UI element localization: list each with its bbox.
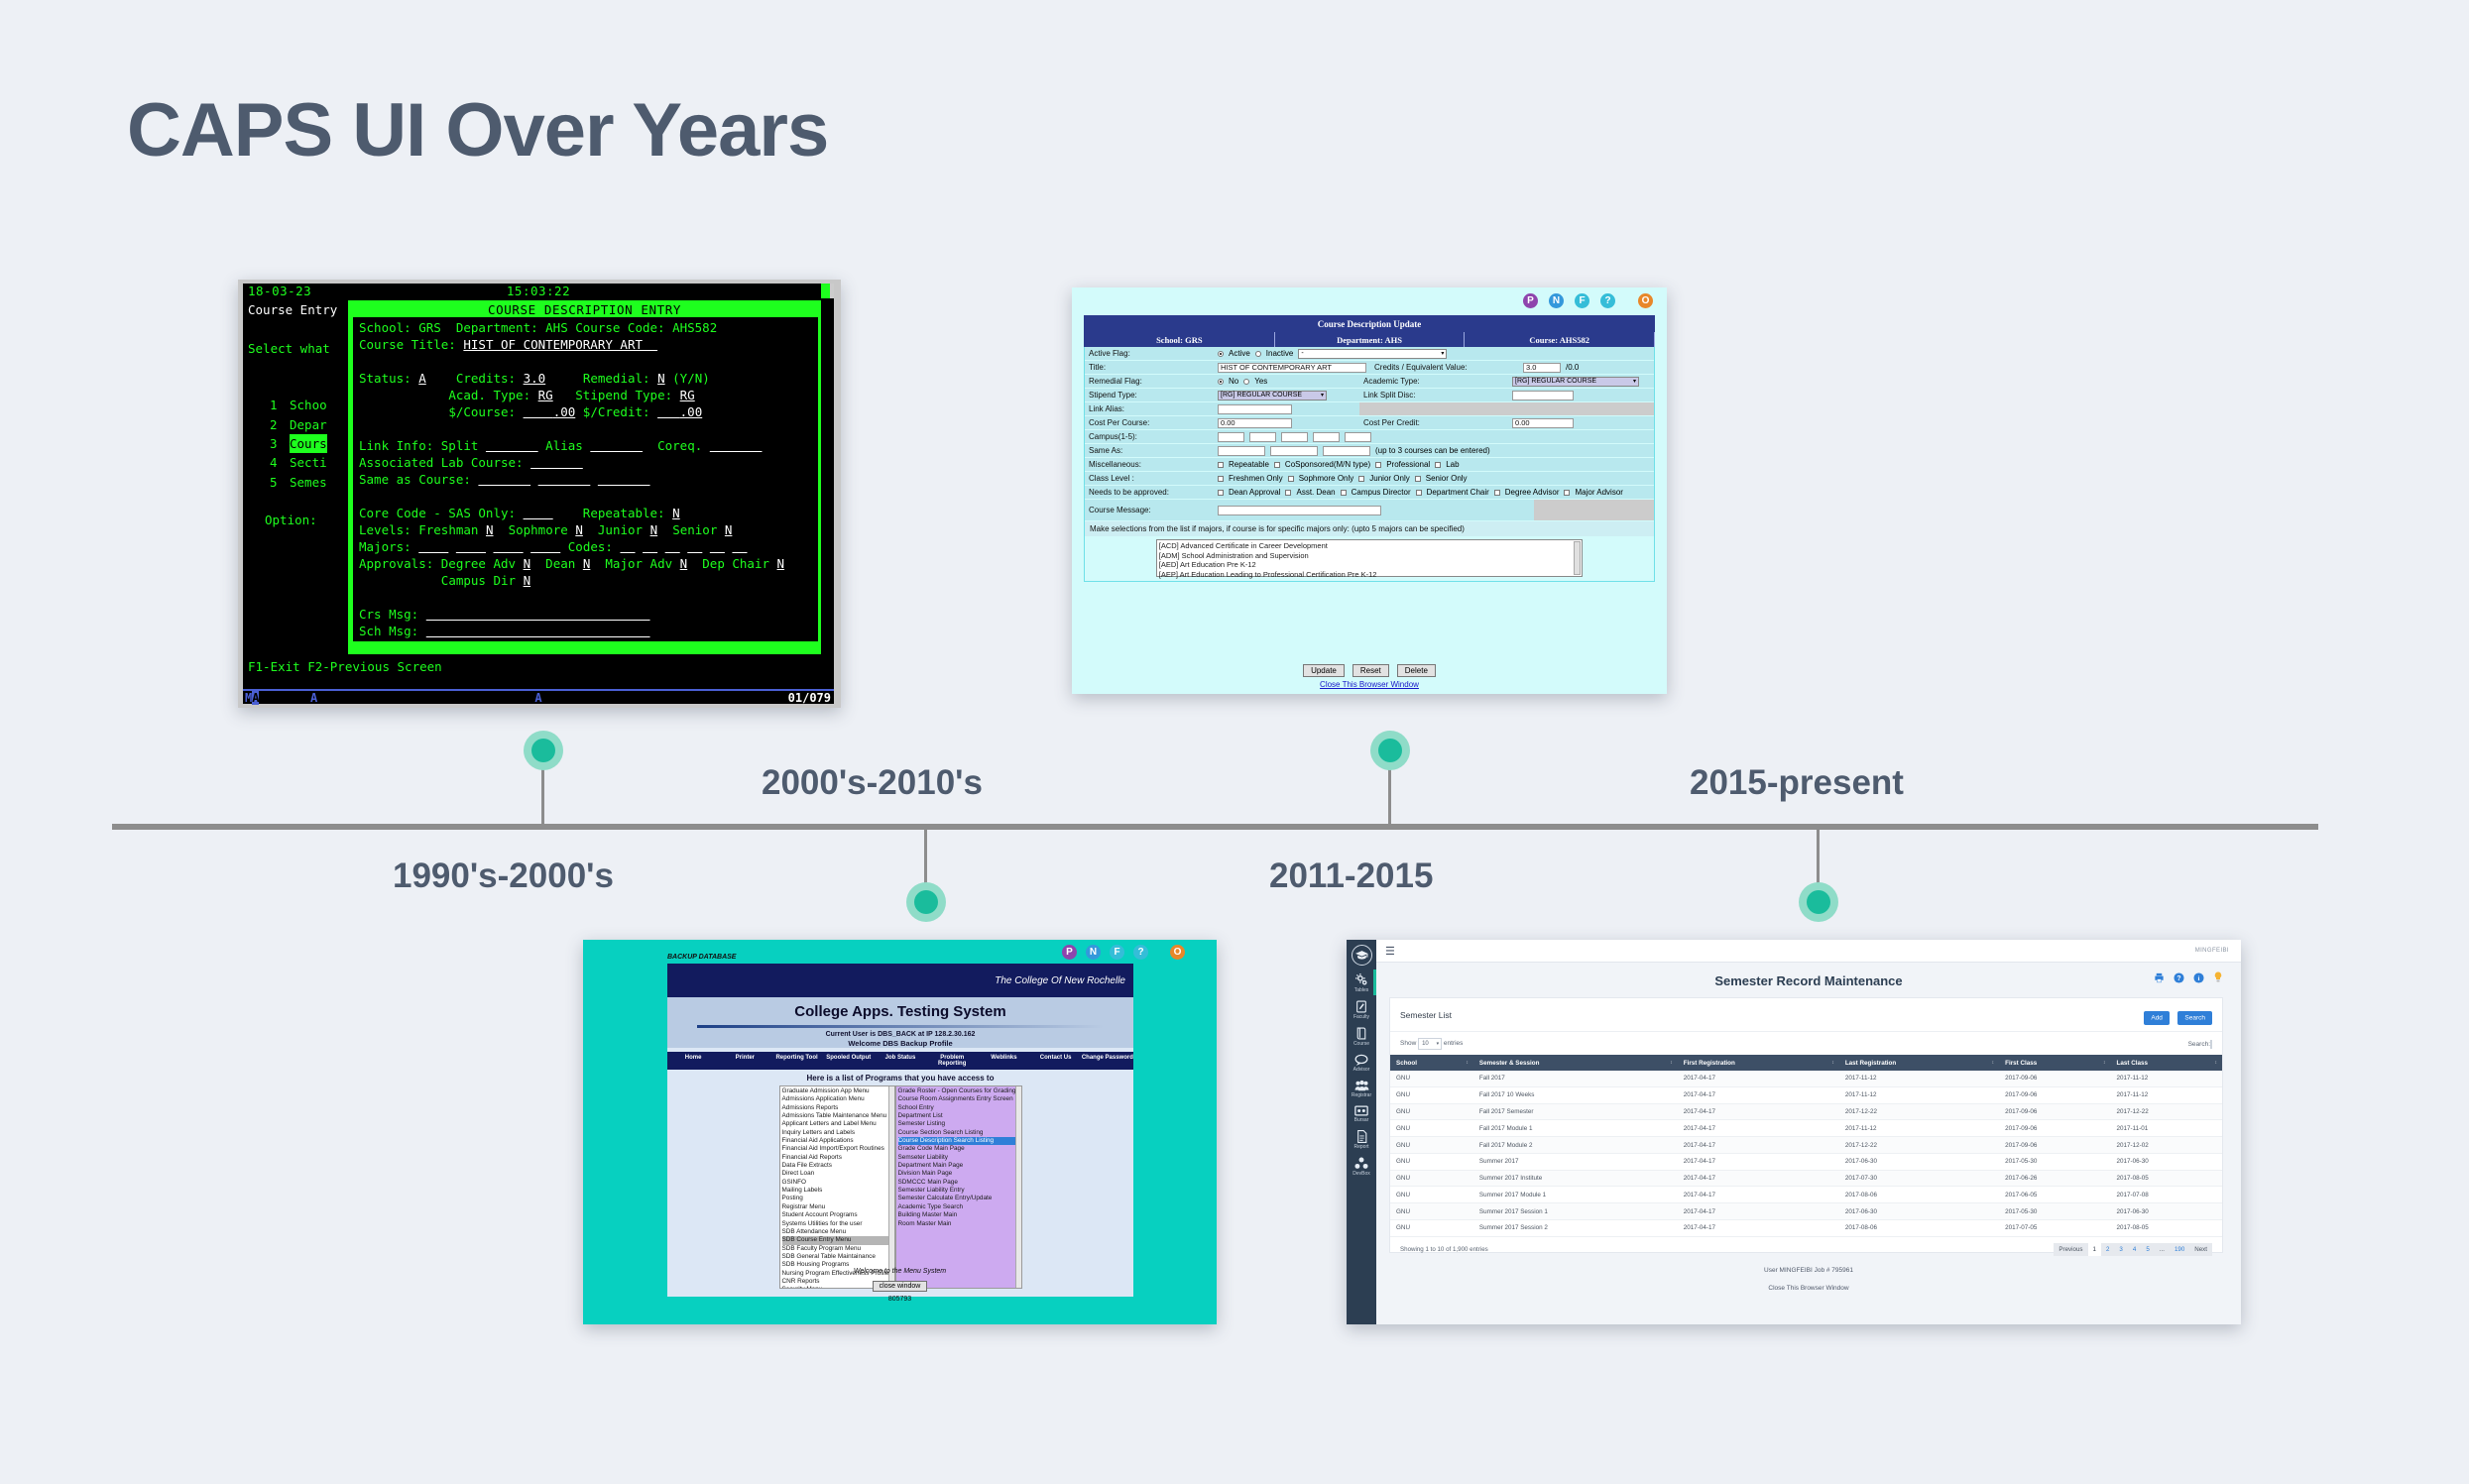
sidebar-item-report[interactable]: Report bbox=[1347, 1130, 1376, 1150]
table-row[interactable]: GNUFall 2017 Module 12017-04-172017-11-1… bbox=[1390, 1120, 2222, 1137]
field-row-same-as: Same As: (up to 3 courses can be entered… bbox=[1085, 444, 1654, 458]
page-5[interactable]: 5 bbox=[2141, 1243, 2154, 1256]
term-depchair-label: Dep Chair bbox=[702, 556, 769, 571]
value-academic-type: [RG] REGULAR COURSE bbox=[1508, 375, 1654, 388]
term-codes-4[interactable] bbox=[687, 539, 702, 554]
subprogram-option[interactable]: Room Master Main bbox=[898, 1220, 1019, 1228]
term-freshman-value[interactable]: N bbox=[486, 522, 494, 537]
term-sameas-2[interactable] bbox=[538, 472, 591, 487]
select-stipend-type[interactable]: [RG] REGULAR COURSE bbox=[1218, 391, 1327, 400]
timeline-label-1: 1990's-2000's bbox=[393, 856, 614, 896]
teal-org-bar: The College Of New Rochelle bbox=[667, 964, 1133, 997]
term-dollarcourse-value[interactable]: .00 bbox=[524, 404, 576, 419]
badge-p-icon[interactable]: P bbox=[1062, 945, 1077, 960]
teal-list-area: Graduate Admission App MenuAdmissions Ap… bbox=[667, 1085, 1133, 1297]
page-1[interactable]: 1 bbox=[2088, 1243, 2101, 1256]
input-same-as-3[interactable] bbox=[1323, 446, 1370, 456]
subprogram-option[interactable]: Course Section Search Listing bbox=[898, 1129, 1019, 1137]
checkbox-asst-dean[interactable] bbox=[1285, 490, 1291, 496]
checkbox-degree-advisor[interactable] bbox=[1494, 490, 1500, 496]
term-majors-1[interactable] bbox=[418, 539, 448, 554]
table-cell: 2017-09-06 bbox=[1999, 1103, 2110, 1120]
value-cost-per-credit: 0.00 bbox=[1508, 416, 1654, 429]
table-cell: 2017-06-26 bbox=[1999, 1170, 2110, 1187]
input-link-split[interactable] bbox=[1512, 391, 1574, 400]
checkbox-professional[interactable] bbox=[1375, 462, 1381, 468]
table-cell: 2017-04-17 bbox=[1678, 1086, 1839, 1103]
subprogram-option[interactable]: Grade Code Main Page bbox=[898, 1145, 1019, 1153]
col-last-class[interactable]: Last Class↕ bbox=[2111, 1055, 2222, 1071]
table-cell: 2017-04-17 bbox=[1678, 1120, 1839, 1137]
input-same-as-1[interactable] bbox=[1218, 446, 1265, 456]
search-control: Search: bbox=[2188, 1041, 2212, 1048]
terminal-date: 18-03-23 bbox=[248, 284, 311, 298]
term-majoradv-value[interactable]: N bbox=[680, 556, 688, 571]
table-cell: 2017-07-05 bbox=[1999, 1220, 2110, 1237]
col-school[interactable]: School↕ bbox=[1390, 1055, 1473, 1071]
term-credits-label: Credits: bbox=[456, 371, 516, 386]
term-schmsg-field[interactable] bbox=[426, 624, 650, 638]
page-3[interactable]: 3 bbox=[2114, 1243, 2127, 1256]
terminal-menu-item-school[interactable]: 1 Schoo bbox=[248, 396, 347, 414]
input-campus-3[interactable] bbox=[1281, 432, 1308, 442]
checkbox-senior-only[interactable] bbox=[1415, 476, 1421, 482]
timeline-label-3: 2011-2015 bbox=[1269, 856, 1433, 896]
radio-active[interactable] bbox=[1218, 351, 1224, 357]
subprogram-option[interactable]: Semseter Liability bbox=[898, 1154, 1019, 1162]
subprogram-option[interactable]: Semester Calculate Entry/Update bbox=[898, 1195, 1019, 1202]
nav-job-status[interactable]: Job Status bbox=[875, 1052, 926, 1070]
field-row-class-level: Class Level : Freshmen Only Sophmore Onl… bbox=[1085, 472, 1654, 486]
table-cell: 2017-08-05 bbox=[2111, 1220, 2222, 1237]
term-school-line: School: GRS Department: AHS Course Code:… bbox=[359, 320, 717, 335]
terminal-status-mode: MMAA bbox=[245, 691, 259, 705]
majors-listbox[interactable]: [ACD] Advanced Certificate in Career Dev… bbox=[1156, 539, 1584, 577]
majors-option-acd[interactable]: [ACD] Advanced Certificate in Career Dev… bbox=[1159, 541, 1581, 551]
term-remedial-value[interactable]: N bbox=[657, 371, 665, 386]
subprogram-option[interactable]: Department Main Page bbox=[898, 1162, 1019, 1170]
card-title: Semester List bbox=[1400, 1010, 1452, 1020]
teal-badge-row: P N F ? O bbox=[1062, 945, 1185, 960]
terminal-menu-item-semester[interactable]: 5 Semes bbox=[248, 473, 347, 492]
input-campus-5[interactable] bbox=[1345, 432, 1371, 442]
subprogram-option[interactable]: Department List bbox=[898, 1112, 1019, 1120]
subprogram-option[interactable]: Course Description Search Listing bbox=[898, 1137, 1019, 1145]
term-dollarcredit-label: $/Credit: bbox=[583, 404, 650, 419]
program-option[interactable]: Direct Loan bbox=[782, 1170, 892, 1178]
table-cell: 2017-07-30 bbox=[1839, 1170, 1999, 1187]
page-next[interactable]: Next bbox=[2189, 1243, 2212, 1256]
delete-button[interactable]: Delete bbox=[1397, 664, 1436, 677]
badge-f-icon[interactable]: F bbox=[1110, 945, 1124, 960]
backup-database-label: BACKUP DATABASE bbox=[667, 954, 736, 961]
table-cell: 2017-04-17 bbox=[1678, 1137, 1839, 1154]
teal-divider bbox=[697, 1025, 1104, 1028]
term-repeatable-value[interactable]: N bbox=[672, 506, 680, 520]
graduation-cap-logo-icon[interactable] bbox=[1352, 945, 1372, 966]
badge-n-icon[interactable]: N bbox=[1549, 293, 1564, 308]
label-link-alias: Link Alias: bbox=[1085, 402, 1214, 415]
term-codes-1[interactable] bbox=[620, 539, 635, 554]
label-major-advisor: Major Advisor bbox=[1575, 488, 1622, 497]
entries-label: entries bbox=[1444, 1040, 1464, 1047]
program-option[interactable]: Applicant Letters and Label Menu bbox=[782, 1120, 892, 1128]
majors-scrollbar[interactable] bbox=[1574, 541, 1581, 575]
term-corecode-field[interactable] bbox=[524, 506, 553, 520]
hamburger-menu-icon[interactable]: ☰ bbox=[1385, 945, 1395, 958]
radio-inactive[interactable] bbox=[1255, 351, 1261, 357]
checkbox-department-chair[interactable] bbox=[1416, 490, 1422, 496]
footer-user-line: User MINGFEIBI Job # 795961 bbox=[1376, 1267, 2241, 1274]
subprogram-option[interactable]: Academic Type Search bbox=[898, 1203, 1019, 1211]
select-active-reason[interactable]: - bbox=[1298, 349, 1447, 359]
timeline-label-4: 2015-present bbox=[1690, 763, 1904, 803]
nav-contact-us[interactable]: Contact Us bbox=[1030, 1052, 1082, 1070]
checkbox-cosponsored[interactable] bbox=[1274, 462, 1280, 468]
sidebar-item-advisor[interactable]: Advisor bbox=[1347, 1054, 1376, 1073]
topbar-username: MINGFEIBI bbox=[2195, 948, 2229, 954]
term-senior-value[interactable]: N bbox=[725, 522, 733, 537]
badge-p-icon[interactable]: P bbox=[1523, 293, 1538, 308]
term-junior-label: Junior bbox=[598, 522, 643, 537]
sidebar-item-faculty[interactable]: Faculty bbox=[1347, 1000, 1376, 1020]
term-acadtype-value[interactable]: RG bbox=[538, 388, 553, 402]
term-alias-field[interactable] bbox=[590, 438, 643, 453]
term-depchair-value[interactable]: N bbox=[777, 556, 785, 571]
timeline-marker-2[interactable] bbox=[906, 882, 946, 922]
label-credits: Credits / Equivalent Value: bbox=[1370, 361, 1519, 374]
nav-problem-reporting[interactable]: Problem Reporting bbox=[926, 1052, 978, 1070]
term-coreq-label: Coreq. bbox=[657, 438, 702, 453]
close-browser-window-link[interactable]: Close This Browser Window bbox=[1072, 680, 1667, 689]
table-cell: Summer 2017 Institute bbox=[1473, 1170, 1678, 1187]
table-cell: 2017-09-06 bbox=[1999, 1137, 2110, 1154]
term-corecode-label: Core Code - SAS Only: bbox=[359, 506, 516, 520]
nav-change-password[interactable]: Change Password bbox=[1082, 1052, 1133, 1070]
subprogram-option[interactable]: SDMCCC Main Page bbox=[898, 1179, 1019, 1187]
showing-entries: Showing 1 to 10 of 1,900 entries bbox=[1400, 1246, 1488, 1253]
term-levels-label: Levels: bbox=[359, 522, 411, 537]
page-previous[interactable]: Previous bbox=[2054, 1243, 2087, 1256]
input-campus-1[interactable] bbox=[1218, 432, 1244, 442]
subprogram-option[interactable]: Course Room Assignments Entry Screen bbox=[898, 1095, 1019, 1103]
program-option[interactable]: Systems Utilities for the user bbox=[782, 1220, 892, 1228]
badge-f-icon[interactable]: F bbox=[1575, 293, 1589, 308]
label-miscellaneous: Miscellaneous: bbox=[1085, 458, 1214, 471]
table-row[interactable]: GNUSummer 2017 Session 22017-04-172017-0… bbox=[1390, 1220, 2222, 1237]
value-course-message bbox=[1214, 500, 1385, 520]
term-sameas-1[interactable] bbox=[478, 472, 530, 487]
term-split-field[interactable] bbox=[486, 438, 538, 453]
term-majors-2[interactable] bbox=[456, 539, 486, 554]
term-sophmore-value[interactable]: N bbox=[575, 522, 583, 537]
input-cost-per-credit[interactable]: 0.00 bbox=[1512, 418, 1574, 428]
table-controls: Show 10 entries Search: bbox=[1390, 1031, 2222, 1055]
page-190[interactable]: 190 bbox=[2170, 1243, 2189, 1256]
program-option[interactable]: Mailing Labels bbox=[782, 1187, 892, 1195]
subprogram-option[interactable]: Division Main Page bbox=[898, 1170, 1019, 1178]
semester-table: School↕ Semester & Session↕ First Regist… bbox=[1390, 1055, 2222, 1237]
term-schmsg-label: Sch Msg: bbox=[359, 624, 418, 638]
terminal-topbar: 18-03-23 15:03:22 bbox=[243, 284, 834, 298]
sidebar-item-registrar[interactable]: Registrar bbox=[1347, 1080, 1376, 1098]
col-last-registration[interactable]: Last Registration↕ bbox=[1839, 1055, 1999, 1071]
program-option[interactable]: Admissions Reports bbox=[782, 1104, 892, 1112]
sidebar-label-devbox: DevBox bbox=[1352, 1171, 1370, 1177]
modern-app-screenshot: Tables Faculty Course Advisor Registrar … bbox=[1347, 940, 2241, 1324]
input-cost-per-course[interactable]: 0.00 bbox=[1218, 418, 1292, 428]
term-dollarcredit-value[interactable]: .00 bbox=[657, 404, 702, 419]
value-miscellaneous: Repeatable CoSponsored(M/N type) Profess… bbox=[1214, 458, 1654, 471]
page-2[interactable]: 2 bbox=[2101, 1243, 2114, 1256]
help-icon[interactable]: ? bbox=[2174, 972, 2184, 983]
terminal-screen-title: COURSE DESCRIPTION ENTRY bbox=[348, 302, 821, 317]
search-input[interactable] bbox=[2210, 1040, 2212, 1049]
program-option[interactable]: Posting bbox=[782, 1195, 892, 1202]
update-button[interactable]: Update bbox=[1303, 664, 1345, 677]
subprogram-option[interactable]: Grade Roster - Open Courses for Grading bbox=[898, 1087, 1019, 1095]
table-cell: 2017-06-05 bbox=[1999, 1187, 2110, 1203]
input-campus-4[interactable] bbox=[1313, 432, 1340, 442]
table-cell: GNU bbox=[1390, 1120, 1473, 1137]
nav-spooled-output[interactable]: Spooled Output bbox=[823, 1052, 875, 1070]
checkbox-sophmore-only[interactable] bbox=[1288, 476, 1294, 482]
program-option[interactable]: Inquiry Letters and Labels bbox=[782, 1129, 892, 1137]
field-row-stipend: Stipend Type: [RG] REGULAR COURSE Link S… bbox=[1085, 389, 1654, 402]
program-option[interactable]: Financial Aid Applications bbox=[782, 1137, 892, 1145]
teal-footer-welcome: Welcome to the Menu System bbox=[583, 1268, 1217, 1275]
label-remedial-yes: Yes bbox=[1254, 377, 1267, 386]
field-row-remedial: Remedial Flag: No Yes Academic Type: [RG… bbox=[1085, 375, 1654, 389]
search-button[interactable]: Search bbox=[2177, 1011, 2212, 1025]
radio-remedial-no[interactable] bbox=[1218, 379, 1224, 385]
term-sophmore-label: Sophmore bbox=[509, 522, 568, 537]
input-credits[interactable]: 3.0 bbox=[1523, 363, 1561, 373]
table-row[interactable]: GNUSummer 2017 Institute2017-04-172017-0… bbox=[1390, 1170, 2222, 1187]
term-codes-2[interactable] bbox=[643, 539, 657, 554]
input-course-message[interactable] bbox=[1218, 506, 1381, 515]
sidebar-item-devbox[interactable]: DevBox bbox=[1347, 1157, 1376, 1177]
table-cell: 2017-08-06 bbox=[1839, 1187, 1999, 1203]
program-option[interactable]: SDB Faculty Program Menu bbox=[782, 1245, 892, 1253]
program-option[interactable]: Admissions Table Maintenance Menu bbox=[782, 1112, 892, 1120]
programs-scrollbar[interactable] bbox=[888, 1086, 894, 1288]
timeline-marker-1[interactable] bbox=[524, 731, 563, 770]
program-option[interactable]: Student Account Programs bbox=[782, 1211, 892, 1219]
table-cell: 2017-05-30 bbox=[1999, 1203, 2110, 1220]
col-semester-session[interactable]: Semester & Session↕ bbox=[1473, 1055, 1678, 1071]
slide-canvas: CAPS UI Over Years 1990's-2000's 2000's-… bbox=[0, 0, 2469, 1484]
sidebar-label-registrar: Registrar bbox=[1352, 1092, 1371, 1098]
value-link-alias bbox=[1214, 402, 1359, 415]
majors-option-aep[interactable]: [AEP] Art Education Leading to Professio… bbox=[1159, 570, 1581, 580]
sidebar-item-course[interactable]: Course bbox=[1347, 1027, 1376, 1047]
program-option[interactable]: Financial Aid Reports bbox=[782, 1154, 892, 1162]
term-status-value[interactable]: A bbox=[418, 371, 426, 386]
checkbox-major-advisor[interactable] bbox=[1564, 490, 1570, 496]
label-remedial-flag: Remedial Flag: bbox=[1085, 375, 1214, 388]
col-first-class[interactable]: First Class↕ bbox=[1999, 1055, 2110, 1071]
table-cell: Summer 2017 Module 1 bbox=[1473, 1187, 1678, 1203]
info-icon[interactable]: i bbox=[2193, 972, 2204, 983]
add-button[interactable]: Add bbox=[2144, 1011, 2170, 1025]
term-crsmsg-field[interactable] bbox=[426, 607, 650, 622]
app-topbar: ☰ MINGFEIBI bbox=[1376, 940, 2241, 963]
program-option[interactable]: Graduate Admission App Menu bbox=[782, 1087, 892, 1095]
program-option[interactable]: SDB Attendance Menu bbox=[782, 1228, 892, 1236]
table-cell: Summer 2017 bbox=[1473, 1153, 1678, 1170]
programs-listbox[interactable]: Graduate Admission App MenuAdmissions Ap… bbox=[779, 1085, 895, 1289]
term-linkinfo-label: Link Info: Split bbox=[359, 438, 478, 453]
page-4[interactable]: 4 bbox=[2128, 1243, 2141, 1256]
table-cell: 2017-11-12 bbox=[2111, 1071, 2222, 1086]
nav-home[interactable]: Home bbox=[667, 1052, 719, 1070]
teal-welcome-line: Welcome DBS Backup Profile bbox=[667, 1039, 1133, 1048]
badge-help-icon[interactable]: ? bbox=[1133, 945, 1148, 960]
majors-option-adm[interactable]: [ADM] School Administration and Supervis… bbox=[1159, 551, 1581, 561]
checkbox-campus-director[interactable] bbox=[1341, 490, 1347, 496]
sidebar-label-advisor: Advisor bbox=[1353, 1067, 1370, 1073]
app-footer: User MINGFEIBI Job # 795961 Close This B… bbox=[1376, 1267, 2241, 1292]
input-campus-2[interactable] bbox=[1249, 432, 1276, 442]
close-window-button[interactable]: close window bbox=[873, 1281, 928, 1292]
table-cell: 2017-06-30 bbox=[2111, 1153, 2222, 1170]
table-cell: 2017-11-12 bbox=[1839, 1071, 1999, 1086]
footer-close-link[interactable]: Close This Browser Window bbox=[1376, 1285, 2241, 1292]
checkbox-freshmen-only[interactable] bbox=[1218, 476, 1224, 482]
term-coursetitle-value[interactable]: HIST OF CONTEMPORARY ART bbox=[463, 337, 643, 352]
nav-reporting-tool[interactable]: Reporting Tool bbox=[770, 1052, 822, 1070]
table-row[interactable]: GNUFall 2017 Module 22017-04-172017-12-2… bbox=[1390, 1137, 2222, 1154]
teal-content-panel: The College Of New Rochelle College Apps… bbox=[667, 964, 1133, 1245]
bulb-icon[interactable] bbox=[2213, 971, 2223, 983]
terminal-menu-item-course[interactable]: 3 Cours bbox=[248, 434, 347, 453]
sidebar-item-tables[interactable]: Tables bbox=[1347, 973, 1376, 993]
printer-icon[interactable] bbox=[2154, 972, 2165, 983]
table-cell: 2017-04-17 bbox=[1678, 1203, 1839, 1220]
checkbox-repeatable[interactable] bbox=[1218, 462, 1224, 468]
table-row[interactable]: GNUFall 2017 Semester2017-04-172017-12-2… bbox=[1390, 1103, 2222, 1120]
terminal-menu-item-department[interactable]: 2 Depar bbox=[248, 415, 347, 434]
term-senior-label: Senior bbox=[672, 522, 717, 537]
hint-same-as: (up to 3 courses can be entered) bbox=[1375, 446, 1490, 455]
webform-actions: Update Reset Delete Close This Browser W… bbox=[1072, 660, 1667, 694]
program-option[interactable]: SDB General Table Maintainance bbox=[782, 1253, 892, 1261]
table-row[interactable]: GNUSummer 2017 Module 12017-04-172017-08… bbox=[1390, 1187, 2222, 1203]
terminal-menu-prompt: Select what bbox=[248, 339, 347, 358]
subprogram-option[interactable]: School Entry bbox=[898, 1104, 1019, 1112]
sidebar-item-bursar[interactable]: Bursar bbox=[1347, 1105, 1376, 1123]
term-degadv-value[interactable]: N bbox=[524, 556, 531, 571]
term-campusdir-value[interactable]: N bbox=[524, 573, 531, 588]
subprograms-listbox[interactable]: Grade Roster - Open Courses for GradingC… bbox=[895, 1085, 1022, 1289]
badge-help-icon[interactable]: ? bbox=[1600, 293, 1615, 308]
term-sameas-3[interactable] bbox=[598, 472, 650, 487]
input-title[interactable]: HIST OF CONTEMPORARY ART bbox=[1218, 363, 1366, 373]
field-row-active-flag: Active Flag: Active Inactive - bbox=[1085, 347, 1654, 361]
timeline-marker-4[interactable] bbox=[1799, 882, 1838, 922]
subprograms-scrollbar[interactable] bbox=[1015, 1086, 1021, 1288]
checkbox-junior-only[interactable] bbox=[1358, 476, 1364, 482]
program-option[interactable]: Registrar Menu bbox=[782, 1203, 892, 1211]
table-row[interactable]: GNUFall 20172017-04-172017-11-122017-09-… bbox=[1390, 1071, 2222, 1086]
badge-o-icon[interactable]: O bbox=[1638, 293, 1653, 308]
nav-weblinks[interactable]: Weblinks bbox=[978, 1052, 1029, 1070]
term-coreq-field[interactable] bbox=[710, 438, 763, 453]
term-stipend-value[interactable]: RG bbox=[680, 388, 695, 402]
table-row[interactable]: GNUSummer 20172017-04-172017-06-302017-0… bbox=[1390, 1153, 2222, 1170]
term-codes-5[interactable] bbox=[710, 539, 725, 554]
badge-o-icon[interactable]: O bbox=[1170, 945, 1185, 960]
term-assoclab-field[interactable] bbox=[530, 455, 583, 470]
label-junior-only: Junior Only bbox=[1369, 474, 1409, 483]
subprogram-option[interactable]: Building Master Main bbox=[898, 1211, 1019, 1219]
label-campus: Campus(1-5): bbox=[1085, 430, 1214, 443]
table-row[interactable]: GNUSummer 2017 Session 12017-04-172017-0… bbox=[1390, 1203, 2222, 1220]
label-cost-per-course: Cost Per Course: bbox=[1085, 416, 1214, 429]
checkbox-dean-approval[interactable] bbox=[1218, 490, 1224, 496]
label-degree-advisor: Degree Advisor bbox=[1505, 488, 1560, 497]
webform-title: Course Description Update bbox=[1084, 315, 1655, 332]
term-dean-value[interactable]: N bbox=[583, 556, 591, 571]
menu-num: 2 bbox=[270, 415, 280, 434]
input-same-as-2[interactable] bbox=[1270, 446, 1318, 456]
select-academic-type[interactable]: [RG] REGULAR COURSE bbox=[1512, 377, 1639, 387]
term-codes-3[interactable] bbox=[665, 539, 680, 554]
timeline-axis bbox=[112, 824, 2318, 830]
radio-remedial-yes[interactable] bbox=[1243, 379, 1249, 385]
app-sidebar: Tables Faculty Course Advisor Registrar … bbox=[1347, 940, 1376, 1324]
program-option[interactable]: Data File Extracts bbox=[782, 1162, 892, 1170]
label-blank-1 bbox=[1359, 402, 1508, 415]
table-cell: GNU bbox=[1390, 1203, 1473, 1220]
checkbox-lab[interactable] bbox=[1435, 462, 1441, 468]
table-cell: 2017-12-22 bbox=[1839, 1103, 1999, 1120]
table-cell: Fall 2017 bbox=[1473, 1071, 1678, 1086]
program-option[interactable]: Financial Aid Import/Export Routines bbox=[782, 1145, 892, 1153]
subprogram-option[interactable]: Semester Listing bbox=[898, 1120, 1019, 1128]
label-freshmen-only: Freshmen Only bbox=[1229, 474, 1283, 483]
webform-screenshot: P N F ? O Course Description Update Scho… bbox=[1072, 287, 1667, 694]
table-cell: 2017-04-17 bbox=[1678, 1220, 1839, 1237]
term-codes-6[interactable] bbox=[732, 539, 747, 554]
term-majors-4[interactable] bbox=[530, 539, 560, 554]
label-repeatable: Repeatable bbox=[1229, 460, 1269, 469]
nav-printer[interactable]: Printer bbox=[719, 1052, 770, 1070]
field-row-title: Title: HIST OF CONTEMPORARY ART Credits … bbox=[1085, 361, 1654, 375]
majors-option-aed[interactable]: [AED] Art Education Pre K-12 bbox=[1159, 560, 1581, 570]
badge-n-icon[interactable]: N bbox=[1086, 945, 1101, 960]
program-option[interactable]: SDB Course Entry Menu bbox=[782, 1236, 892, 1244]
sidebar-label-bursar: Bursar bbox=[1354, 1117, 1369, 1123]
term-majors-3[interactable] bbox=[494, 539, 524, 554]
term-dean-label: Dean bbox=[545, 556, 575, 571]
entries-select[interactable]: 10 bbox=[1418, 1038, 1442, 1050]
term-credits-value[interactable]: 3.0 bbox=[524, 371, 546, 386]
term-junior-value[interactable]: N bbox=[650, 522, 658, 537]
program-option[interactable]: Admissions Application Menu bbox=[782, 1095, 892, 1103]
term-remedial-label: Remedial: bbox=[583, 371, 650, 386]
timeline-marker-3[interactable] bbox=[1370, 731, 1410, 770]
program-option[interactable]: GSINFO bbox=[782, 1179, 892, 1187]
col-first-registration[interactable]: First Registration↕ bbox=[1678, 1055, 1839, 1071]
label-campus-director: Campus Director bbox=[1352, 488, 1411, 497]
table-row[interactable]: GNUFall 2017 10 Weeks2017-04-172017-11-1… bbox=[1390, 1086, 2222, 1103]
subprogram-option[interactable]: Semester Liability Entry bbox=[898, 1187, 1019, 1195]
terminal-menu-item-section[interactable]: 4 Secti bbox=[248, 453, 347, 472]
input-link-alias[interactable] bbox=[1218, 404, 1292, 414]
reset-button[interactable]: Reset bbox=[1352, 664, 1389, 677]
